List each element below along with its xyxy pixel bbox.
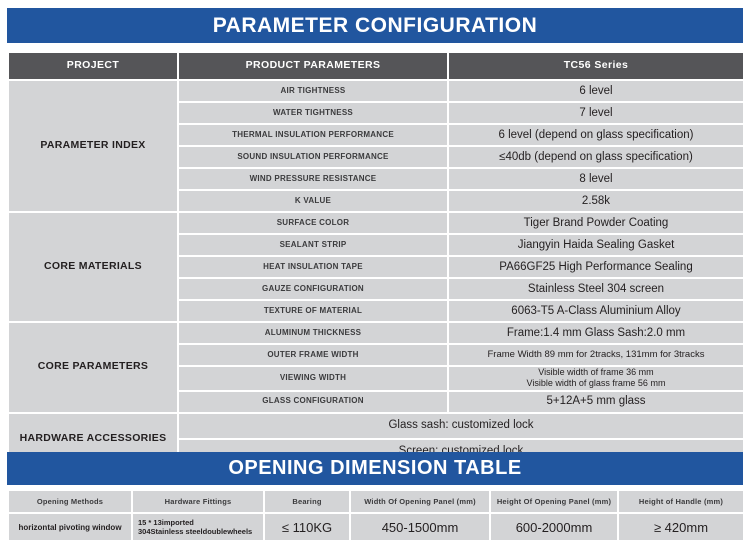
param-name: SOUND INSULATION PERFORMANCE bbox=[179, 147, 447, 167]
hardware-fittings-line1: 15 * 13imported bbox=[138, 518, 263, 527]
table-row: PARAMETER INDEX AIR TIGHTNESS 6 level bbox=[9, 81, 743, 101]
param-value: 8 level bbox=[449, 169, 743, 189]
param-value: Stainless Steel 304 screen bbox=[449, 279, 743, 299]
opening-header-hardware-fittings: Hardware Fittings bbox=[133, 491, 263, 512]
param-name: ALUMINUM THICKNESS bbox=[179, 323, 447, 343]
opening-dimension-title: OPENING DIMENSION TABLE bbox=[228, 457, 521, 480]
param-value: 6 level bbox=[449, 81, 743, 101]
parameter-configuration-table: PROJECT PRODUCT PARAMETERS TC56 Series P… bbox=[7, 51, 745, 466]
param-name: AIR TIGHTNESS bbox=[179, 81, 447, 101]
hardware-fittings-line2: 304Stainless steeldoublewheels bbox=[138, 527, 263, 536]
param-value: Tiger Brand Powder Coating bbox=[449, 213, 743, 233]
header-product-parameters: PRODUCT PARAMETERS bbox=[179, 53, 447, 79]
opening-dimension-banner: OPENING DIMENSION TABLE bbox=[7, 452, 743, 485]
param-value-line2: Visible width of glass frame 56 mm bbox=[449, 378, 743, 389]
param-name: OUTER FRAME WIDTH bbox=[179, 345, 447, 365]
header-series: TC56 Series bbox=[449, 53, 743, 79]
param-name: SURFACE COLOR bbox=[179, 213, 447, 233]
param-name: HEAT INSULATION TAPE bbox=[179, 257, 447, 277]
opening-header-bearing: Bearing bbox=[265, 491, 349, 512]
parameter-configuration-title: PARAMETER CONFIGURATION bbox=[213, 14, 538, 38]
group-label-core-parameters: CORE PARAMETERS bbox=[9, 323, 177, 412]
opening-header-opening-methods: Opening Methods bbox=[9, 491, 131, 512]
param-value: ≤40db (depend on glass specification) bbox=[449, 147, 743, 167]
opening-value-height-of-opening-panel: 600-2000mm bbox=[491, 514, 617, 540]
opening-table-header-row: Opening Methods Hardware Fittings Bearin… bbox=[9, 491, 743, 512]
parameter-configuration-banner: PARAMETER CONFIGURATION bbox=[7, 8, 743, 43]
opening-table-row: horizontal pivoting window 15 * 13import… bbox=[9, 514, 743, 540]
param-value: 6063-T5 A-Class Aluminium Alloy bbox=[449, 301, 743, 321]
param-name: WATER TIGHTNESS bbox=[179, 103, 447, 123]
table-row: CORE MATERIALS SURFACE COLOR Tiger Brand… bbox=[9, 213, 743, 233]
table-row: HARDWARE ACCESSORIES Glass sash: customi… bbox=[9, 414, 743, 438]
param-name: GAUZE CONFIGURATION bbox=[179, 279, 447, 299]
param-value: Jiangyin Haida Sealing Gasket bbox=[449, 235, 743, 255]
header-project: PROJECT bbox=[9, 53, 177, 79]
opening-header-height-of-opening-panel: Height Of Opening Panel (mm) bbox=[491, 491, 617, 512]
param-value: Frame Width 89 mm for 2tracks, 131mm for… bbox=[449, 345, 743, 365]
opening-header-height-of-handle: Height of Handle (mm) bbox=[619, 491, 743, 512]
table-row: CORE PARAMETERS ALUMINUM THICKNESS Frame… bbox=[9, 323, 743, 343]
param-value: Frame:1.4 mm Glass Sash:2.0 mm bbox=[449, 323, 743, 343]
spec-sheet: PARAMETER CONFIGURATION PROJECT PRODUCT … bbox=[0, 0, 750, 542]
opening-value-hardware-fittings: 15 * 13imported 304Stainless steeldouble… bbox=[133, 514, 263, 540]
opening-dimension-table: Opening Methods Hardware Fittings Bearin… bbox=[7, 489, 745, 542]
opening-header-width-of-opening-panel: Width Of Opening Panel (mm) bbox=[351, 491, 489, 512]
param-value: 5+12A+5 mm glass bbox=[449, 392, 743, 412]
opening-value-height-of-handle: ≥ 420mm bbox=[619, 514, 743, 540]
opening-value-bearing: ≤ 110KG bbox=[265, 514, 349, 540]
param-name: GLASS CONFIGURATION bbox=[179, 392, 447, 412]
param-value-line1: Visible width of frame 36 mm bbox=[449, 367, 743, 378]
param-name: SEALANT STRIP bbox=[179, 235, 447, 255]
group-label-core-materials: CORE MATERIALS bbox=[9, 213, 177, 321]
param-name: VIEWING WIDTH bbox=[179, 367, 447, 390]
param-name: THERMAL INSULATION PERFORMANCE bbox=[179, 125, 447, 145]
param-value: 2.58k bbox=[449, 191, 743, 211]
opening-value-opening-methods: horizontal pivoting window bbox=[9, 514, 131, 540]
table-header-row: PROJECT PRODUCT PARAMETERS TC56 Series bbox=[9, 53, 743, 79]
param-value: 6 level (depend on glass specification) bbox=[449, 125, 743, 145]
opening-value-width-of-opening-panel: 450-1500mm bbox=[351, 514, 489, 540]
param-name: WIND PRESSURE RESISTANCE bbox=[179, 169, 447, 189]
param-value: 7 level bbox=[449, 103, 743, 123]
param-name: K VALUE bbox=[179, 191, 447, 211]
param-name: TEXTURE OF MATERIAL bbox=[179, 301, 447, 321]
param-value: PA66GF25 High Performance Sealing bbox=[449, 257, 743, 277]
param-value: Visible width of frame 36 mm Visible wid… bbox=[449, 367, 743, 390]
group-label-parameter-index: PARAMETER INDEX bbox=[9, 81, 177, 211]
hardware-accessory-value: Glass sash: customized lock bbox=[179, 414, 743, 438]
